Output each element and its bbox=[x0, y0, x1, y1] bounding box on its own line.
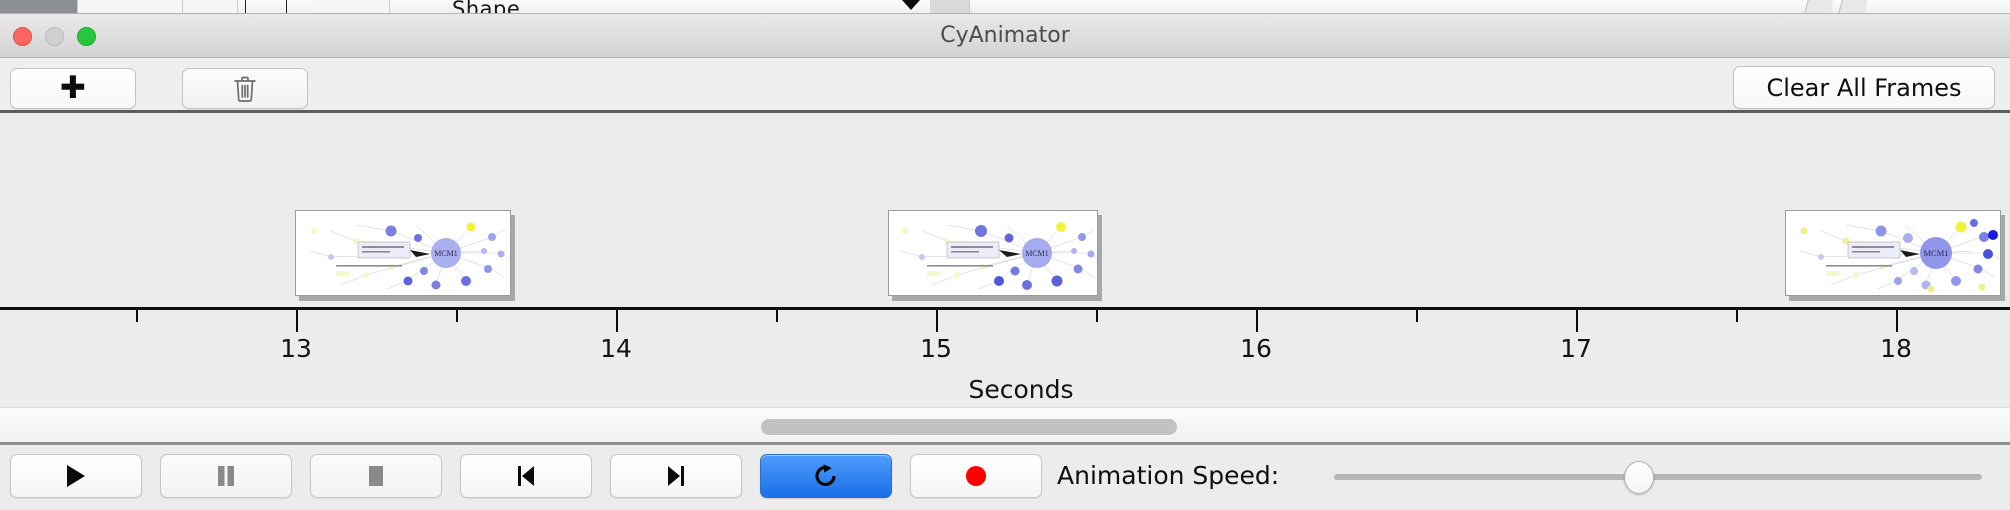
background-corner bbox=[1804, 0, 1833, 14]
add-frame-button[interactable]: ✚ bbox=[10, 68, 136, 109]
frame-image: MCM1 bbox=[888, 210, 1098, 296]
skip-forward-icon bbox=[663, 462, 689, 490]
cyanimator-window: Shape CyAnimator ✚ Clear All Frames bbox=[0, 0, 2010, 510]
center-node-label: MCM1 bbox=[434, 249, 458, 258]
skip-back-button[interactable] bbox=[460, 454, 592, 498]
axis-tick-major bbox=[1256, 310, 1258, 332]
axis-tick-minor bbox=[136, 310, 138, 322]
background-window-strip: Shape bbox=[0, 0, 2010, 14]
clear-all-frames-label: Clear All Frames bbox=[1766, 74, 1961, 102]
background-tab bbox=[78, 0, 183, 14]
center-node-label: MCM1 bbox=[1025, 249, 1049, 258]
network-graph: MCM1 bbox=[1786, 211, 2000, 295]
background-tab-selected bbox=[0, 0, 78, 14]
title-bar: CyAnimator bbox=[0, 14, 2010, 58]
trash-icon bbox=[233, 75, 257, 103]
playback-control-bar: Animation Speed: bbox=[0, 445, 2010, 510]
axis-tick-label: 17 bbox=[1560, 334, 1592, 363]
background-divider bbox=[286, 0, 287, 14]
slider-track[interactable] bbox=[1334, 474, 1982, 480]
scrollbar-thumb[interactable] bbox=[761, 419, 1177, 435]
record-icon bbox=[963, 463, 989, 489]
axis-tick-major bbox=[296, 310, 298, 332]
background-corner bbox=[1838, 0, 1867, 14]
axis-tick-label: 18 bbox=[1880, 334, 1912, 363]
window-title: CyAnimator bbox=[0, 14, 2010, 58]
background-tab bbox=[930, 0, 970, 14]
background-tab bbox=[310, 0, 390, 14]
axis-tick-label: 13 bbox=[280, 334, 312, 363]
stop-button[interactable] bbox=[310, 454, 442, 498]
play-icon bbox=[63, 462, 89, 490]
frame-thumbnail-2[interactable]: MCM1 bbox=[888, 210, 1098, 296]
frame-image: MCM1 bbox=[1785, 210, 2001, 296]
frame-image: MCM1 bbox=[295, 210, 511, 296]
axis-line bbox=[0, 307, 2010, 310]
clear-all-frames-button[interactable]: Clear All Frames bbox=[1733, 66, 1995, 109]
loop-icon bbox=[811, 461, 841, 491]
skip-forward-button[interactable] bbox=[610, 454, 742, 498]
axis-tick-minor bbox=[1096, 310, 1098, 322]
axis-tick-label: 14 bbox=[600, 334, 632, 363]
axis-title: Seconds bbox=[968, 375, 1073, 404]
axis-tick-major bbox=[1576, 310, 1578, 332]
horizontal-scrollbar[interactable] bbox=[0, 407, 2010, 445]
background-divider bbox=[245, 0, 246, 14]
pause-icon bbox=[213, 462, 239, 490]
axis-tick-minor bbox=[456, 310, 458, 322]
frame-thumbnail-3[interactable]: MCM1 bbox=[1785, 210, 2001, 296]
loop-button[interactable] bbox=[760, 454, 892, 498]
axis-tick-label: 15 bbox=[920, 334, 952, 363]
center-node-label: MCM1 bbox=[1923, 248, 1948, 258]
animation-speed-label: Animation Speed: bbox=[1057, 454, 1279, 498]
axis-tick-label: 16 bbox=[1240, 334, 1272, 363]
stop-icon bbox=[363, 462, 389, 490]
pause-button[interactable] bbox=[160, 454, 292, 498]
background-window-label: Shape bbox=[452, 0, 520, 14]
record-button[interactable] bbox=[910, 454, 1042, 498]
animation-speed-slider[interactable] bbox=[1334, 454, 1982, 498]
plus-icon: ✚ bbox=[60, 73, 86, 104]
axis-tick-minor bbox=[776, 310, 778, 322]
slider-thumb[interactable] bbox=[1624, 461, 1654, 494]
toolbar: ✚ Clear All Frames bbox=[0, 58, 2010, 110]
timeline-axis: 2131415161718 Seconds bbox=[0, 307, 2010, 407]
axis-tick-minor bbox=[1736, 310, 1738, 322]
skip-back-icon bbox=[513, 462, 539, 490]
axis-tick-major bbox=[1896, 310, 1898, 332]
axis-tick-major bbox=[936, 310, 938, 332]
play-button[interactable] bbox=[10, 454, 142, 498]
delete-frame-button[interactable] bbox=[182, 68, 308, 109]
axis-tick-minor bbox=[1416, 310, 1418, 322]
background-tab bbox=[183, 0, 238, 14]
frame-thumbnail-1[interactable]: MCM1 bbox=[295, 210, 511, 296]
network-graph: MCM1 bbox=[889, 211, 1097, 295]
background-caret-icon bbox=[902, 0, 920, 10]
axis-tick-major bbox=[616, 310, 618, 332]
network-graph: MCM1 bbox=[296, 211, 510, 295]
